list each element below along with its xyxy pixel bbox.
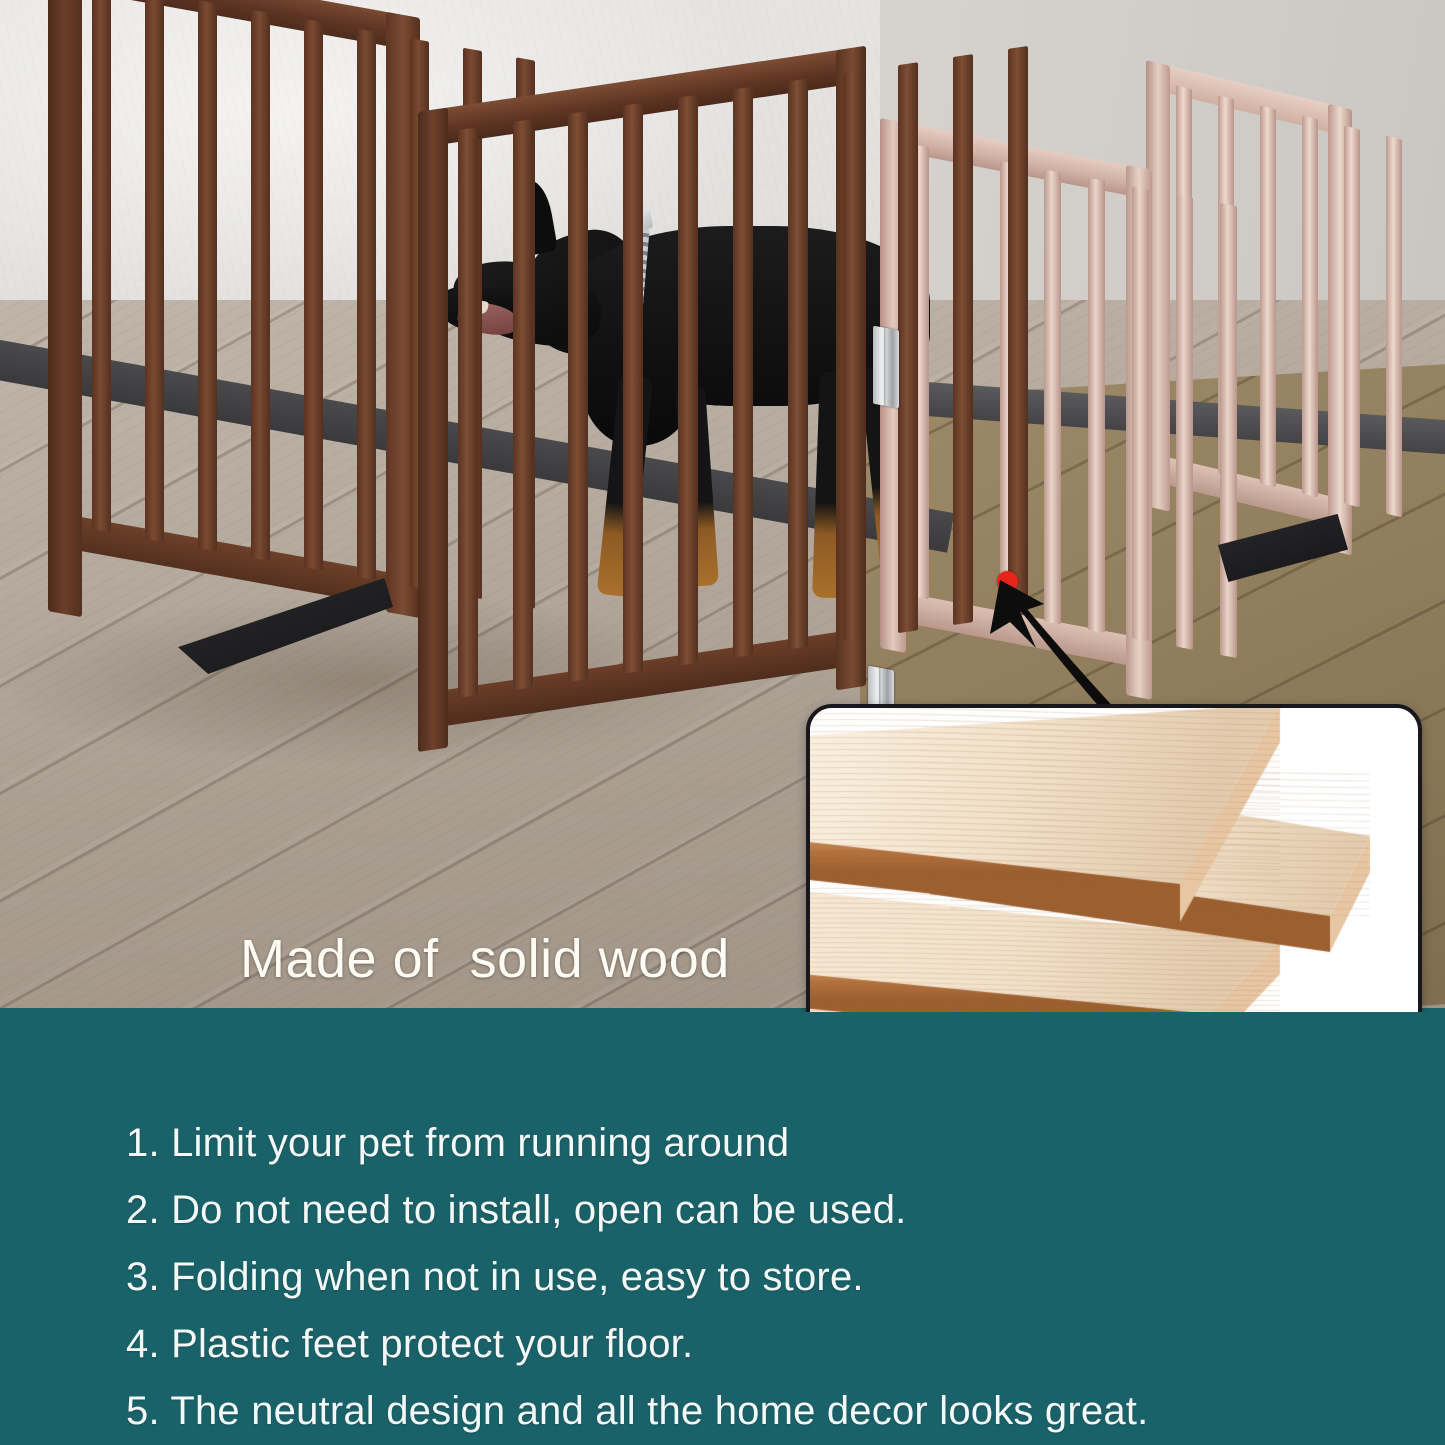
gate-slat (1044, 169, 1061, 624)
room-photo: Made of solid wood (0, 0, 1445, 1012)
product-marketing-image: Made of solid wood 1. Limit your pet fro… (0, 0, 1445, 1445)
gate-slat (304, 19, 323, 570)
gate-slat (513, 119, 533, 690)
gate-slat (1260, 105, 1276, 487)
gate-slat (1008, 46, 1028, 617)
gate-panel-2 (418, 46, 866, 792)
gate-slat (251, 10, 270, 561)
gate-slat (678, 95, 698, 666)
gate-slat (198, 0, 217, 551)
feature-list: 1. Limit your pet from running around 2.… (0, 1008, 1445, 1445)
list-item: 5. The neutral design and all the home d… (126, 1389, 1148, 1434)
panel-stile-left (48, 0, 82, 617)
solid-wood-inset-photo (806, 704, 1422, 1012)
gate-slat (92, 0, 111, 532)
gate-panel-1 (48, 0, 420, 678)
gate-slat (898, 62, 918, 633)
gate-slat (1220, 203, 1237, 658)
gate-slat (357, 29, 376, 580)
gate-slat (145, 0, 164, 542)
gate-slat (1344, 126, 1360, 508)
wood-boards-illustration (810, 708, 1410, 1012)
list-item: 2. Do not need to install, open can be u… (126, 1188, 906, 1233)
caption-made-of-solid-wood: Made of solid wood (240, 928, 730, 990)
gate-slat (623, 103, 643, 674)
list-item: 4. Plastic feet protect your floor. (126, 1322, 693, 1367)
gate-slat (458, 127, 478, 698)
gate-slat (568, 111, 588, 682)
gate-slat (843, 70, 863, 641)
panel-stile-left (418, 108, 448, 752)
list-item: 3. Folding when not in use, easy to stor… (126, 1255, 864, 1300)
gate-slat (733, 87, 753, 658)
gate-slat (953, 54, 973, 625)
features-panel: 1. Limit your pet from running around 2.… (0, 1008, 1445, 1445)
list-item: 1. Limit your pet from running around (126, 1121, 789, 1166)
gate-slat (1386, 136, 1402, 518)
gate-hinge (873, 326, 899, 409)
gate-slat (1302, 115, 1318, 497)
gate-slat (788, 78, 808, 649)
